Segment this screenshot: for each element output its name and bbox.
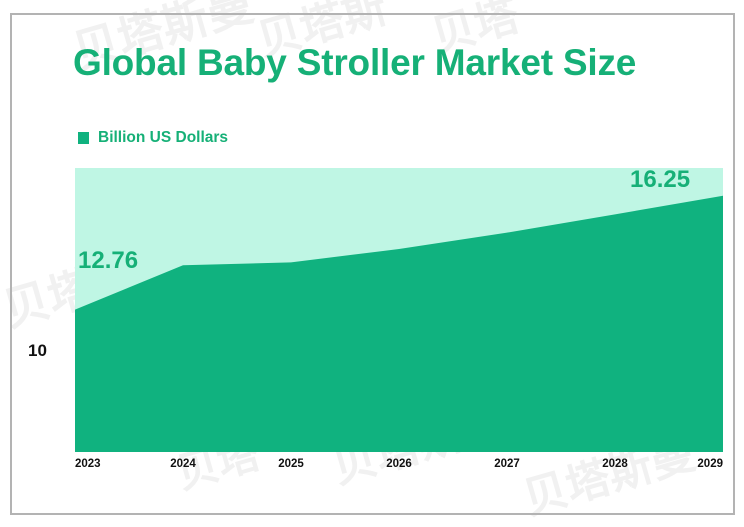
area-series-polygon <box>75 196 723 452</box>
x-axis-tick-2023: 2023 <box>75 458 101 470</box>
chart-title: Global Baby Stroller Market Size <box>73 42 636 84</box>
legend-swatch-icon <box>78 132 89 144</box>
x-axis-tick-2026: 2026 <box>386 458 412 470</box>
chart-legend: Billion US Dollars <box>78 129 228 147</box>
x-axis-tick-2025: 2025 <box>278 458 304 470</box>
legend-item-label: Billion US Dollars <box>98 129 228 147</box>
chart-page: 贝塔斯曼贝塔斯贝塔贝塔斯曼贝塔斯贝塔斯曼贝塔 Global Baby Strol… <box>0 0 744 525</box>
x-axis-tick-2024: 2024 <box>170 458 196 470</box>
x-axis-tick-2028: 2028 <box>602 458 628 470</box>
value-label-first: 12.76 <box>78 247 138 275</box>
y-axis-tick-10: 10 <box>28 341 47 361</box>
x-axis-tick-2027: 2027 <box>494 458 520 470</box>
area-series-svg <box>75 168 723 452</box>
value-label-last: 16.25 <box>630 166 690 194</box>
x-axis-tick-2029: 2029 <box>697 458 723 470</box>
x-axis: 2023202420252026202720282029 <box>75 458 723 478</box>
plot-area <box>75 168 723 452</box>
